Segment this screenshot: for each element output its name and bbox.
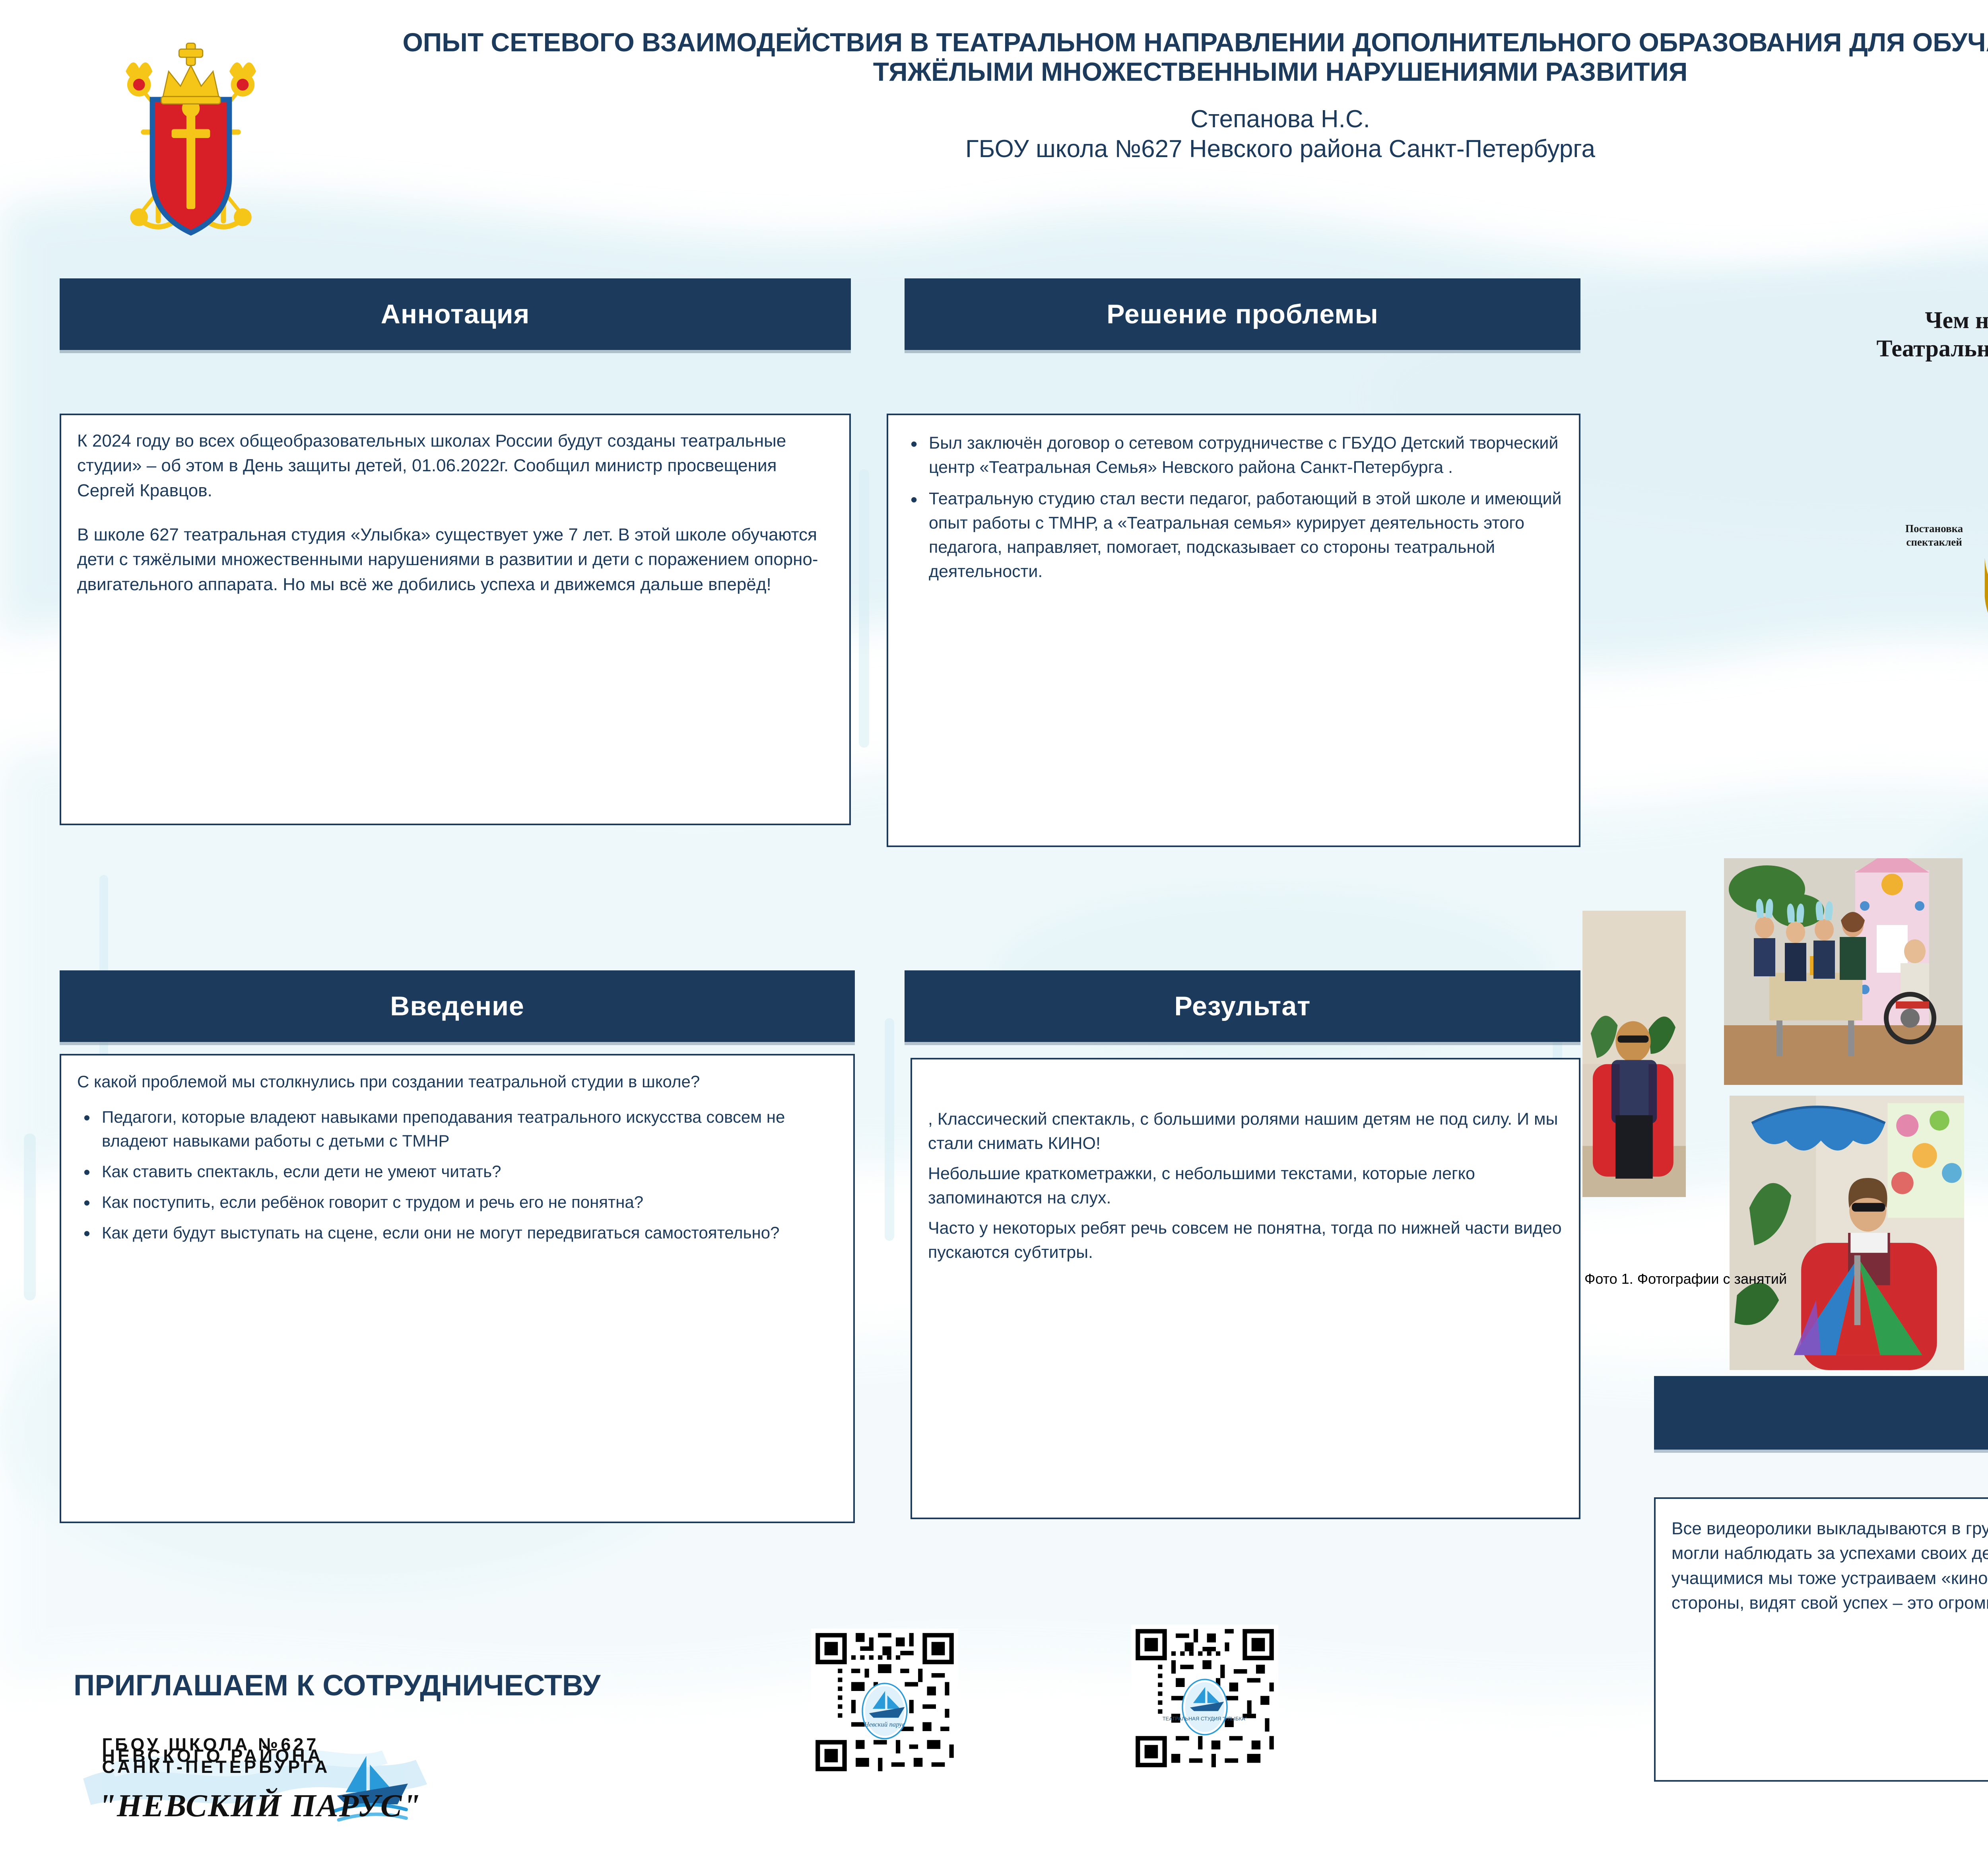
author-name: Степанова Н.С. xyxy=(326,104,1988,134)
result-paragraph: Небольшие краткометражки, с небольшими т… xyxy=(928,1162,1563,1210)
pie-chart: Поздравления с праздниками Съёмки Ералаш… xyxy=(1722,389,1988,692)
section-body-solution: Был заключён договор о сетевом сотруднич… xyxy=(887,414,1580,847)
nevsky-parus-bottom-logo: ГБОУ ШКОЛА №627 НЕВСКОГО РАЙОНА САНКТ-ПЕ… xyxy=(66,1726,503,1829)
chart-legend: Кв. 1 Кв. 2 Кв. 3 Кв. 4 Кв 5 xyxy=(1722,693,1988,702)
annotation-paragraph: К 2024 году во всех общеобразовательных … xyxy=(77,429,833,503)
section-header-introduction: Введение xyxy=(60,970,855,1042)
qr-code-studio-ulybka[interactable]: ТЕАТРАЛЬНАЯ СТУДИЯ "УЛЫБКА" xyxy=(1131,1625,1278,1772)
section-body-conclusion: Все видеоролики выкладываются в группу в… xyxy=(1654,1497,1988,1782)
pie-chart-svg xyxy=(1722,389,1988,692)
page-title: ОПЫТ СЕТЕВОГО ВЗАИМОДЕЙСТВИЯ В ТЕАТРАЛЬН… xyxy=(326,28,1988,87)
qr-code-nevsky-parus[interactable]: Невский парус xyxy=(811,1629,958,1776)
section-header-solution: Решение проблемы xyxy=(905,278,1580,350)
section-header-result: Результат xyxy=(905,970,1580,1042)
qr-center-label: Невский парус xyxy=(864,1721,905,1728)
introduction-lead: С какой проблемой мы столкнулись при соз… xyxy=(77,1070,837,1094)
invite-to-cooperation: ПРИГЛАШАЕМ К СОТРУДНИЧЕСТВУ xyxy=(74,1668,600,1702)
logo-school-line-3: САНКТ-ПЕТЕРБУРГА xyxy=(102,1757,330,1777)
section-body-result: , Классический спектакль, с большими рол… xyxy=(911,1058,1580,1519)
section-body-introduction: С какой проблемой мы столкнулись при соз… xyxy=(60,1054,855,1523)
chart-subtitle: Направления деятельности театральной сту… xyxy=(1722,375,1988,387)
section-header-conclusion: Заключение xyxy=(1654,1376,1988,1450)
list-item: Как поступить, если ребёнок говорит с тр… xyxy=(77,1190,837,1214)
photo-girl-umbrella xyxy=(1730,1096,1964,1370)
photo-collage xyxy=(1574,811,1988,1269)
chart-title: Чем на данный момент занимается Театраль… xyxy=(1722,306,1988,363)
list-item: Театральную студию стал вести педагог, р… xyxy=(904,487,1563,584)
section-header-introduction-label: Введение xyxy=(390,991,524,1022)
qr-center-label: ТЕАТРАЛЬНАЯ СТУДИЯ "УЛЫБКА" xyxy=(1163,1716,1247,1722)
pie-chart-panel: Чем на данный момент занимается Театраль… xyxy=(1722,306,1988,795)
chart-title-line-2: Театральная студия «Улыбка» в школе 627? xyxy=(1722,334,1988,363)
section-header-solution-label: Решение проблемы xyxy=(1107,299,1378,330)
photo-caption: Фото 1. Фотографии с занятий xyxy=(1584,1271,1787,1287)
annotation-paragraph: В школе 627 театральная студия «Улыбка» … xyxy=(77,523,833,597)
section-header-annotation-label: Аннотация xyxy=(381,299,530,330)
logo-word: "НЕВСКИЙ ПАРУС" xyxy=(98,1788,421,1823)
result-paragraph: , Классический спектакль, с большими рол… xyxy=(928,1107,1563,1156)
conclusion-paragraph: Все видеоролики выкладываются в группу в… xyxy=(1672,1516,1988,1616)
result-paragraph: Часто у некоторых ребят речь совсем не п… xyxy=(928,1216,1563,1265)
section-header-result-label: Результат xyxy=(1175,991,1311,1022)
poster-title-block: ОПЫТ СЕТЕВОГО ВЗАИМОДЕЙСТВИЯ В ТЕАТРАЛЬН… xyxy=(326,28,1988,164)
section-body-annotation: К 2024 году во всех общеобразовательных … xyxy=(60,414,851,825)
list-item: Педагоги, которые владеют навыками препо… xyxy=(77,1105,837,1153)
school-name: ГБОУ школа №627 Невского района Санкт-Пе… xyxy=(326,134,1988,164)
list-item: Как дети будут выступать на сцене, если … xyxy=(77,1221,837,1245)
section-header-annotation: Аннотация xyxy=(60,278,851,350)
photo-girl-red-chair xyxy=(1582,911,1686,1197)
photo-kids-table xyxy=(1724,858,1963,1085)
chart-title-line-1: Чем на данный момент занимается xyxy=(1722,306,1988,334)
list-item: Был заключён договор о сетевом сотруднич… xyxy=(904,431,1563,480)
list-item: Как ставить спектакль, если дети не умею… xyxy=(77,1160,837,1184)
saint-petersburg-coat-of-arms xyxy=(93,36,288,251)
